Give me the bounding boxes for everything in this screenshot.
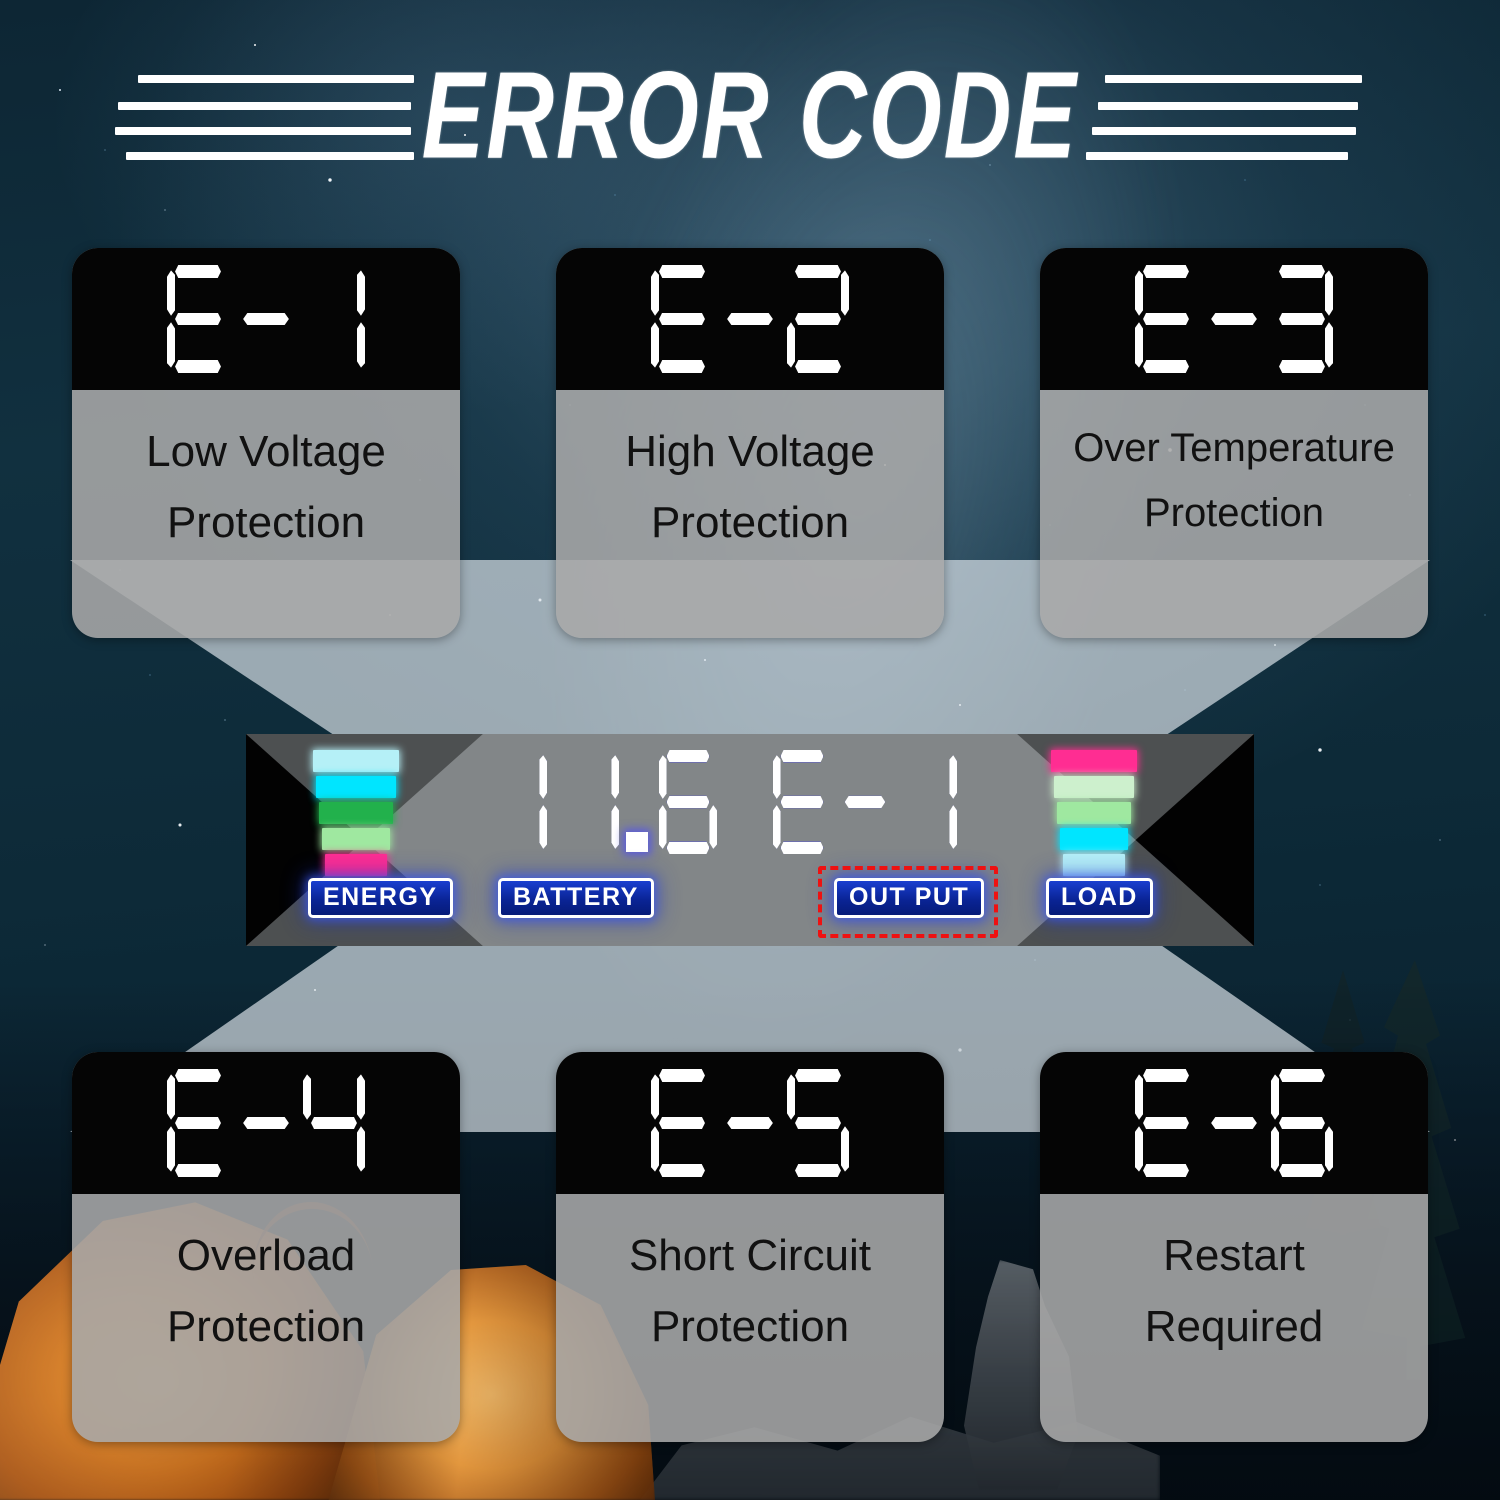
- segment-glyph-5: [787, 1069, 849, 1177]
- error-card-e2-line2: Protection: [574, 487, 926, 558]
- error-card-e6-body: Restart Required: [1040, 1194, 1428, 1442]
- lcd-code-e1: [72, 248, 460, 390]
- error-card-e5[interactable]: Short Circuit Protection: [556, 1052, 944, 1442]
- decor-lines-left: [114, 61, 414, 171]
- error-card-e1-body: Low Voltage Protection: [72, 390, 460, 638]
- segment-glyph-3: [1271, 265, 1333, 373]
- lcd-code-e3: [1040, 248, 1428, 390]
- load-level-meter: [1046, 750, 1142, 878]
- energy-segment-4: [322, 828, 390, 850]
- battery-voltage-readout: [482, 750, 724, 854]
- load-segment-3: [1057, 802, 1131, 824]
- segment-glyph-1: [561, 750, 619, 854]
- segment-dash: [724, 265, 776, 373]
- output-code-readout: [766, 750, 964, 854]
- error-card-e4-body: Overload Protection: [72, 1194, 460, 1442]
- error-card-e3-line2: Protection: [1058, 481, 1410, 546]
- page-title: ERROR CODE: [407, 54, 1092, 177]
- error-card-e6-line2: Required: [1058, 1291, 1410, 1362]
- segment-glyph-6: [659, 750, 717, 854]
- segment-glyph-1: [303, 265, 365, 373]
- error-card-e5-line1: Short Circuit: [574, 1220, 926, 1291]
- panel-tag-row: ENERGY BATTERY OUT PUT LOAD: [246, 876, 1254, 930]
- energy-segment-2: [316, 776, 396, 798]
- error-card-e1-line1: Low Voltage: [90, 416, 442, 487]
- lcd-display-panel: ENERGY BATTERY OUT PUT LOAD: [246, 734, 1254, 946]
- error-card-e5-line2: Protection: [574, 1291, 926, 1362]
- lcd-code-e5: [556, 1052, 944, 1194]
- segment-glyph-2: [787, 265, 849, 373]
- error-card-e4[interactable]: Overload Protection: [72, 1052, 460, 1442]
- error-card-e1[interactable]: Low Voltage Protection: [72, 248, 460, 638]
- tag-battery[interactable]: BATTERY: [498, 878, 654, 918]
- error-card-e4-line1: Overload: [90, 1220, 442, 1291]
- seven-segment-e5: [644, 1069, 856, 1177]
- error-card-e6-line1: Restart: [1058, 1220, 1410, 1291]
- decor-lines-right: [1086, 61, 1386, 171]
- error-card-e3-body: Over Temperature Protection: [1040, 390, 1428, 638]
- error-card-e2-body: High Voltage Protection: [556, 390, 944, 638]
- tag-energy[interactable]: ENERGY: [308, 878, 453, 918]
- segment-dash: [724, 1069, 776, 1177]
- segment-dash: [240, 1069, 292, 1177]
- segment-decimal-point: [626, 750, 652, 854]
- seven-segment-e4: [160, 1069, 372, 1177]
- lcd-code-e2: [556, 248, 944, 390]
- segment-glyph-E: [773, 750, 831, 854]
- seven-segment-e3: [1128, 265, 1340, 373]
- segment-dash: [842, 750, 888, 854]
- segment-glyph-1: [899, 750, 957, 854]
- error-code-infographic: ERROR CODE Low Voltage Protection High V…: [0, 0, 1500, 1500]
- tag-load[interactable]: LOAD: [1046, 878, 1153, 918]
- lcd-code-e4: [72, 1052, 460, 1194]
- output-alert-highlight: [818, 866, 998, 938]
- error-card-e1-line2: Protection: [90, 487, 442, 558]
- error-card-e3-line1: Over Temperature: [1058, 416, 1410, 481]
- segment-glyph-E: [167, 265, 229, 373]
- segment-dash: [240, 265, 292, 373]
- segment-glyph-E: [167, 1069, 229, 1177]
- seven-segment-e6: [1128, 1069, 1340, 1177]
- segment-glyph-E: [1135, 265, 1197, 373]
- error-card-e5-body: Short Circuit Protection: [556, 1194, 944, 1442]
- load-segment-2: [1054, 776, 1134, 798]
- segment-dash: [1208, 265, 1260, 373]
- page-header: ERROR CODE: [0, 56, 1500, 176]
- energy-segment-5: [325, 854, 387, 876]
- lcd-code-e6: [1040, 1052, 1428, 1194]
- error-card-e2-line1: High Voltage: [574, 416, 926, 487]
- error-card-e6[interactable]: Restart Required: [1040, 1052, 1428, 1442]
- energy-segment-3: [319, 802, 393, 824]
- segment-glyph-E: [1135, 1069, 1197, 1177]
- segment-glyph-6: [1271, 1069, 1333, 1177]
- segment-glyph-E: [651, 265, 713, 373]
- load-segment-5: [1063, 854, 1125, 876]
- seven-segment-e2: [644, 265, 856, 373]
- load-segment-4: [1060, 828, 1128, 850]
- segment-glyph-E: [651, 1069, 713, 1177]
- seven-segment-e1: [160, 265, 372, 373]
- error-card-e2[interactable]: High Voltage Protection: [556, 248, 944, 638]
- load-segment-1: [1051, 750, 1137, 772]
- segment-glyph-1: [489, 750, 547, 854]
- energy-segment-1: [313, 750, 399, 772]
- segment-dash: [1208, 1069, 1260, 1177]
- error-card-e3[interactable]: Over Temperature Protection: [1040, 248, 1428, 638]
- segment-glyph-4: [303, 1069, 365, 1177]
- error-card-e4-line2: Protection: [90, 1291, 442, 1362]
- energy-level-meter: [308, 750, 404, 878]
